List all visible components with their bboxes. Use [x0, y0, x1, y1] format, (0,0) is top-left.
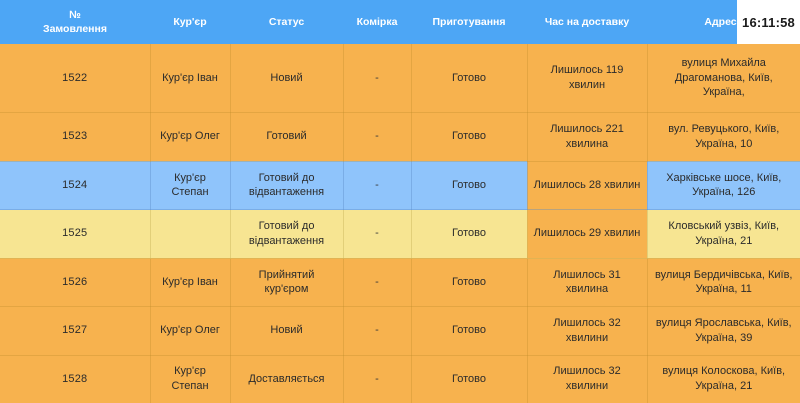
- cell-address: вулиця Колоскова, Київ, Україна, 21: [647, 355, 800, 403]
- table-row[interactable]: 1524Кур'єр СтепанГотовий до відвантаженн…: [0, 161, 800, 210]
- cell-order-no: 1525: [0, 210, 150, 259]
- table-row[interactable]: 1526Кур'єр ІванПрийнятий кур'єром-Готово…: [0, 258, 800, 307]
- column-header-cell[interactable]: Комірка: [343, 0, 411, 44]
- column-header-status[interactable]: Статус: [230, 0, 343, 44]
- header-row: № Замовлення Кур'єр Статус Комірка Приго…: [0, 0, 800, 44]
- cell-preparation: Готово: [411, 307, 527, 356]
- cell-address: вулиця Бердичівська, Київ, Україна, 11: [647, 258, 800, 307]
- cell-courier: Кур'єр Іван: [150, 258, 230, 307]
- cell-delivery-time: Лишилось 31 хвилина: [527, 258, 647, 307]
- cell-address: Кловський узвіз, Київ, Україна, 21: [647, 210, 800, 259]
- orders-table: № Замовлення Кур'єр Статус Комірка Приго…: [0, 0, 800, 403]
- cell-preparation: Готово: [411, 44, 527, 113]
- column-header-preparation[interactable]: Приготування: [411, 0, 527, 44]
- cell-order-no: 1527: [0, 307, 150, 356]
- cell-order-no: 1528: [0, 355, 150, 403]
- orders-table-body: 1522Кур'єр ІванНовий-ГотовоЛишилось 119 …: [0, 44, 800, 403]
- column-header-order-no[interactable]: № Замовлення: [0, 0, 150, 44]
- cell-locker: -: [343, 113, 411, 162]
- cell-status: Доставляється: [230, 355, 343, 403]
- cell-address: вул. Ревуцького, Київ, Україна, 10: [647, 113, 800, 162]
- cell-preparation: Готово: [411, 355, 527, 403]
- orders-table-header: № Замовлення Кур'єр Статус Комірка Приго…: [0, 0, 800, 44]
- table-row[interactable]: 1525Готовий до відвантаження-ГотовоЛишил…: [0, 210, 800, 259]
- cell-status: Готовий до відвантаження: [230, 210, 343, 259]
- cell-courier: Кур'єр Олег: [150, 307, 230, 356]
- cell-address: вулиця Михайла Драгоманова, Київ, Україн…: [647, 44, 800, 113]
- cell-status: Новий: [230, 307, 343, 356]
- table-row[interactable]: 1528Кур'єр СтепанДоставляється-ГотовоЛиш…: [0, 355, 800, 403]
- cell-courier: Кур'єр Іван: [150, 44, 230, 113]
- cell-order-no: 1524: [0, 161, 150, 210]
- cell-status: Новий: [230, 44, 343, 113]
- cell-delivery-time: Лишилось 32 хвилини: [527, 307, 647, 356]
- cell-preparation: Готово: [411, 258, 527, 307]
- cell-locker: -: [343, 258, 411, 307]
- cell-preparation: Готово: [411, 113, 527, 162]
- column-header-delivery-time[interactable]: Час на доставку: [527, 0, 647, 44]
- cell-courier: Кур'єр Олег: [150, 113, 230, 162]
- cell-delivery-time: Лишилось 119 хвилин: [527, 44, 647, 113]
- cell-preparation: Готово: [411, 210, 527, 259]
- column-header-courier[interactable]: Кур'єр: [150, 0, 230, 44]
- cell-courier: Кур'єр Степан: [150, 355, 230, 403]
- cell-locker: -: [343, 355, 411, 403]
- cell-locker: -: [343, 307, 411, 356]
- cell-delivery-time: Лишилось 221 хвилина: [527, 113, 647, 162]
- cell-order-no: 1523: [0, 113, 150, 162]
- cell-preparation: Готово: [411, 161, 527, 210]
- cell-delivery-time: Лишилось 32 хвилини: [527, 355, 647, 403]
- cell-address: Харківське шосе, Київ, Україна, 126: [647, 161, 800, 210]
- cell-address: вулиця Ярославська, Київ, Україна, 39: [647, 307, 800, 356]
- cell-locker: -: [343, 210, 411, 259]
- cell-locker: -: [343, 161, 411, 210]
- cell-delivery-time: Лишилось 29 хвилин: [527, 210, 647, 259]
- cell-courier: Кур'єр Степан: [150, 161, 230, 210]
- orders-monitor-screen: № Замовлення Кур'єр Статус Комірка Приго…: [0, 0, 800, 403]
- cell-order-no: 1526: [0, 258, 150, 307]
- cell-status: Прийнятий кур'єром: [230, 258, 343, 307]
- table-row[interactable]: 1523Кур'єр ОлегГотовий-ГотовоЛишилось 22…: [0, 113, 800, 162]
- table-row[interactable]: 1527Кур'єр ОлегНовий-ГотовоЛишилось 32 х…: [0, 307, 800, 356]
- cell-courier: [150, 210, 230, 259]
- cell-status: Готовий: [230, 113, 343, 162]
- clock-display: 16:11:58: [737, 0, 800, 44]
- cell-delivery-time: Лишилось 28 хвилин: [527, 161, 647, 210]
- cell-status: Готовий до відвантаження: [230, 161, 343, 210]
- cell-locker: -: [343, 44, 411, 113]
- table-row[interactable]: 1522Кур'єр ІванНовий-ГотовоЛишилось 119 …: [0, 44, 800, 113]
- cell-order-no: 1522: [0, 44, 150, 113]
